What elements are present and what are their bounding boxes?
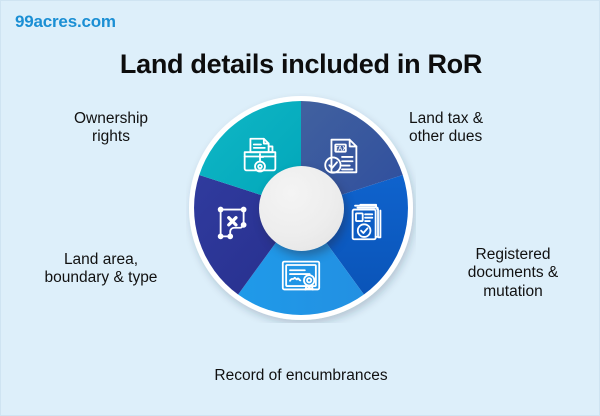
label-land-tax: Land tax & other dues <box>409 110 559 147</box>
tax-document-check-icon: TAX <box>319 133 365 179</box>
donut-wheel: TAX <box>186 93 416 323</box>
land-plot-boundary-icon <box>212 199 258 245</box>
page-title: Land details included in RoR <box>1 49 600 80</box>
label-ownership-rights: Ownership rights <box>41 110 181 147</box>
label-record-encumbrances: Record of encumbrances <box>1 367 600 385</box>
infographic-canvas: 99acres.com Land details included in RoR <box>0 0 600 416</box>
svg-text:TAX: TAX <box>335 147 346 153</box>
certificate-seal-icon <box>278 253 324 299</box>
label-land-area: Land area, boundary & type <box>15 251 187 288</box>
folder-key-icon <box>237 133 283 179</box>
label-registered-documents: Registered documents & mutation <box>433 246 593 301</box>
documents-verified-icon <box>344 199 390 245</box>
brand-logo: 99acres.com <box>15 12 116 32</box>
